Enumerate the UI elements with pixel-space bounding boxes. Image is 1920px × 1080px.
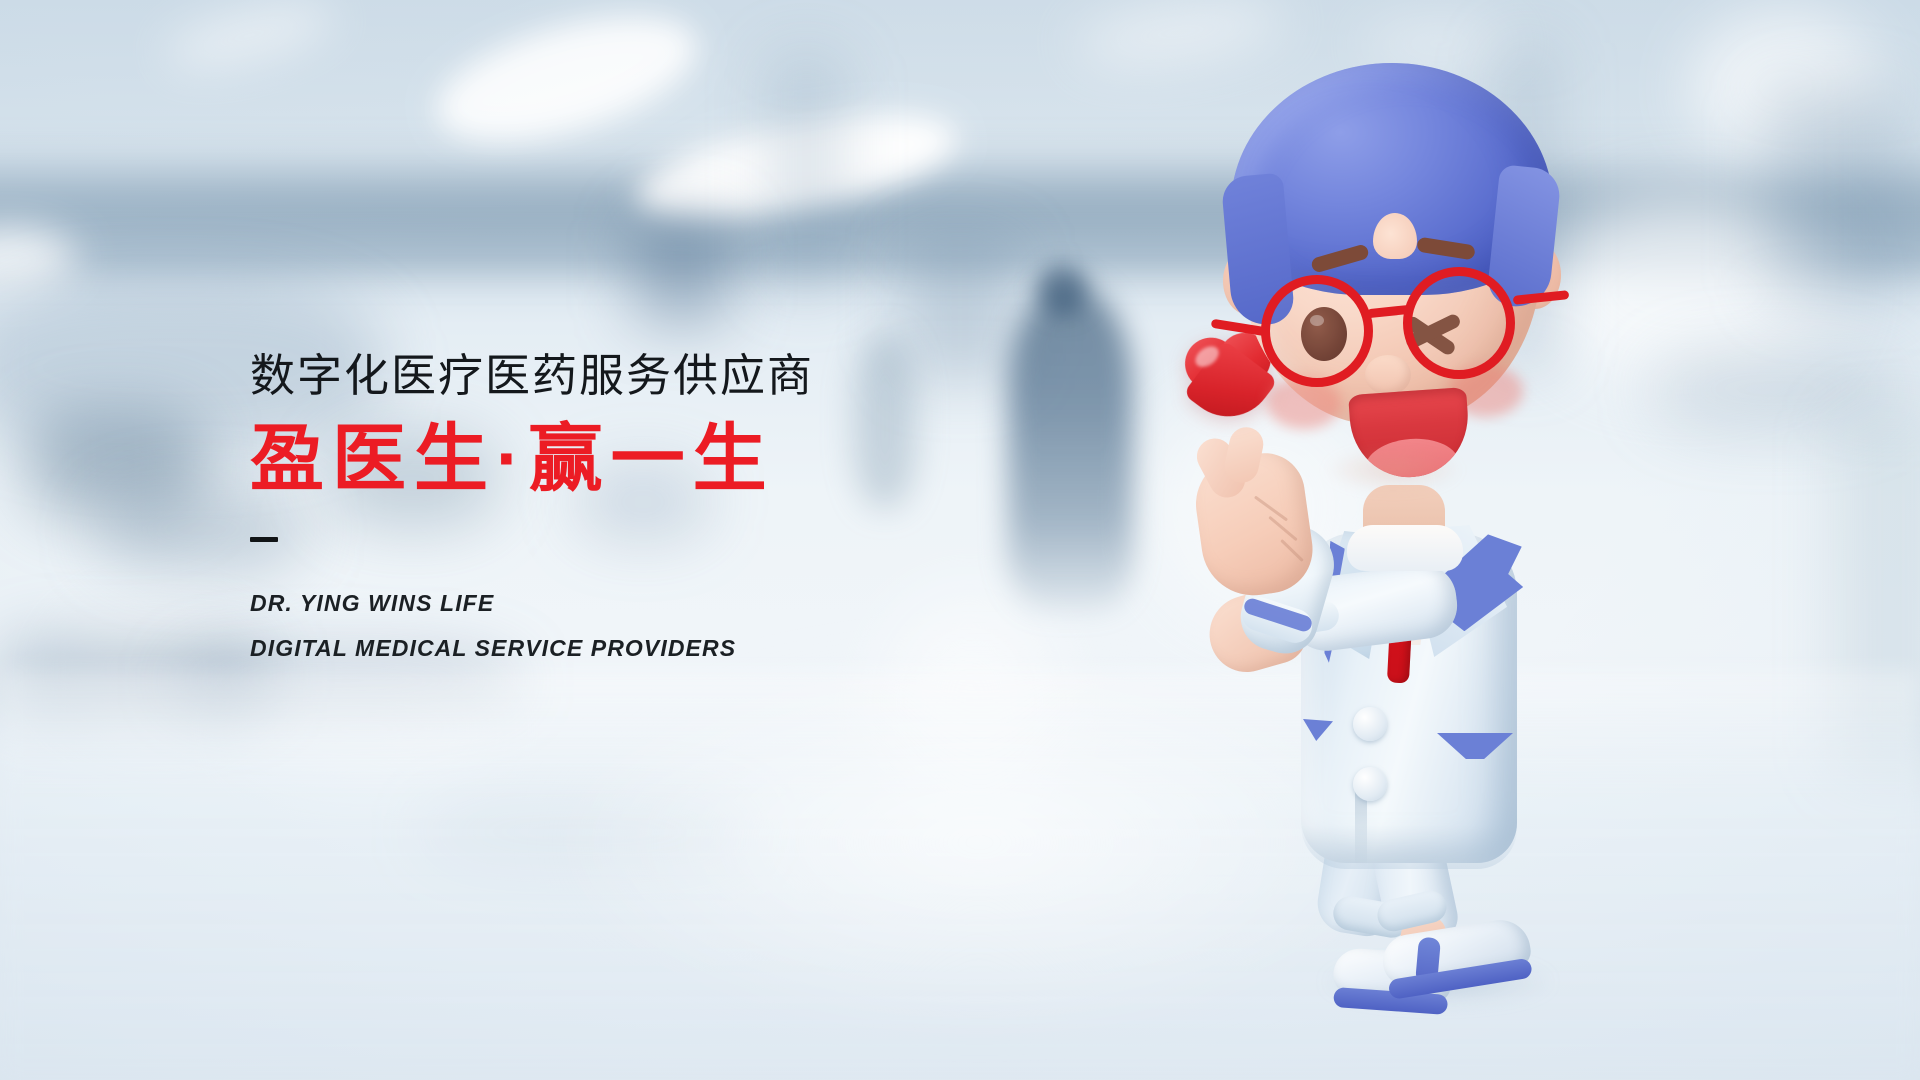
- coat-button-top: [1353, 707, 1387, 741]
- hero-headline: 盈医生·赢一生: [250, 419, 1010, 499]
- hero-divider: [250, 537, 278, 542]
- hero-kicker: 数字化医疗医药服务供应商: [250, 352, 1010, 399]
- doctor-mascot-illustration: [1205, 55, 1625, 1035]
- glasses-lens-left: [1261, 275, 1373, 387]
- chin-shadow: [1323, 447, 1463, 493]
- collar: [1347, 525, 1463, 571]
- hero-english-block: DR. YING WINS LIFE DIGITAL MEDICAL SERVI…: [250, 592, 1010, 660]
- glasses-icon: [1227, 267, 1557, 387]
- lab-coat-hem: [1301, 825, 1517, 869]
- coat-button-bottom: [1353, 767, 1387, 801]
- glasses-temple-right: [1513, 290, 1570, 305]
- hero-banner: 数字化医疗医药服务供应商 盈医生·赢一生 DR. YING WINS LIFE …: [0, 0, 1920, 1080]
- glasses-lens-right: [1403, 267, 1515, 379]
- hero-copy: 数字化医疗医药服务供应商 盈医生·赢一生 DR. YING WINS LIFE …: [250, 352, 1010, 660]
- hero-english-line-1: DR. YING WINS LIFE: [250, 592, 1010, 615]
- hero-english-line-2: DIGITAL MEDICAL SERVICE PROVIDERS: [250, 637, 1010, 660]
